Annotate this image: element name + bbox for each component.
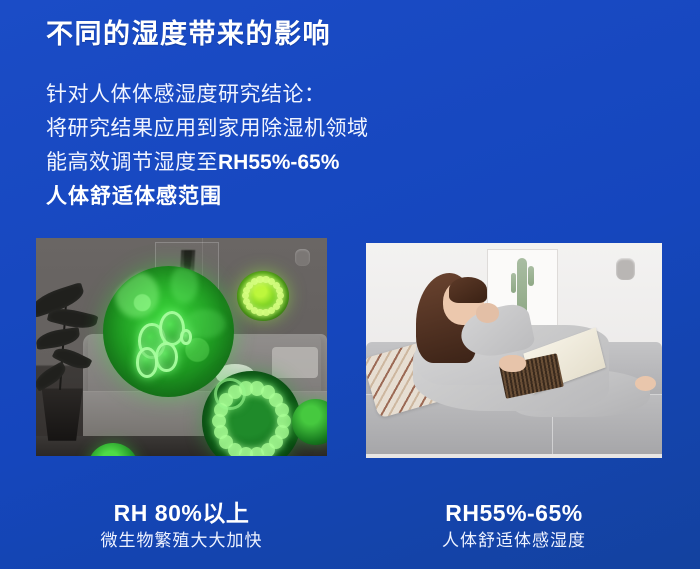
page-title: 不同的湿度带来的影响 — [46, 18, 331, 52]
body-line-3: 能高效调节湿度至RH55%-65% — [46, 146, 369, 180]
microbe-cell — [180, 329, 192, 345]
microbe-sphere-upper-right — [237, 271, 289, 321]
person-hand — [499, 355, 526, 372]
caption-primary: RH55%-65% — [366, 498, 662, 528]
microbe-spike — [276, 287, 283, 294]
microbe-spikes — [237, 271, 289, 321]
microbe-ring — [214, 378, 246, 411]
person-hand — [476, 303, 500, 322]
body-copy: 针对人体体感湿度研究结论： 将研究结果应用到家用除湿机领域 能高效调节湿度至RH… — [46, 78, 369, 214]
caption-secondary: 微生物繁殖大大加快 — [36, 528, 327, 554]
wall-thermostat-icon — [295, 249, 310, 266]
photo-comfort-humidity — [366, 243, 662, 458]
caption-primary: RH 80%以上 — [36, 498, 327, 528]
wall-thermostat-icon — [616, 258, 635, 280]
sofa-cushion — [272, 347, 319, 378]
body-line-1: 针对人体体感湿度研究结论： — [46, 78, 369, 112]
body-line-3-highlight: RH55%-65% — [218, 151, 339, 174]
caption-high-humidity: RH 80%以上 微生物繁殖大大加快 — [36, 498, 327, 554]
caption-comfort-humidity: RH55%-65% 人体舒适体感湿度 — [366, 498, 662, 554]
microbe-cell — [136, 347, 158, 377]
slide-canvas: 不同的湿度带来的影响 针对人体体感湿度研究结论： 将研究结果应用到家用除湿机领域… — [0, 0, 700, 569]
body-line-4: 人体舒适体感范围 — [46, 180, 369, 214]
person-hair-top — [449, 277, 487, 303]
microbe-spike — [275, 403, 289, 417]
caption-secondary: 人体舒适体感湿度 — [366, 528, 662, 554]
body-line-3-prefix: 能高效调节湿度至 — [46, 151, 218, 174]
body-line-2: 将研究结果应用到家用除湿机领域 — [46, 112, 369, 146]
photo-high-humidity — [36, 238, 327, 456]
microbe-cluster-large — [103, 266, 234, 397]
microbe-cell — [155, 342, 177, 372]
